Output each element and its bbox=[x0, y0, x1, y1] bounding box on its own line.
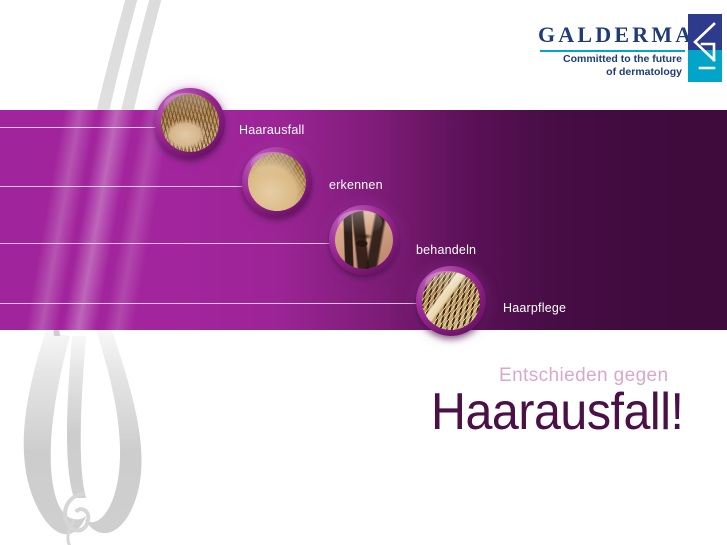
step-bubble-behandeln[interactable] bbox=[329, 205, 399, 275]
step-bubble-haarausfall[interactable] bbox=[155, 88, 225, 158]
step-bubble-haarpflege[interactable] bbox=[416, 266, 486, 336]
step-label-haarausfall: Haarausfall bbox=[239, 123, 304, 137]
logo-tagline-line1: Committed to the future bbox=[538, 53, 682, 66]
tagline-large: Haarausfall! bbox=[431, 382, 683, 442]
bubble-ring bbox=[242, 147, 312, 217]
connector-line-1 bbox=[0, 127, 158, 128]
connector-line-2 bbox=[0, 186, 246, 187]
bubble-ring bbox=[329, 205, 399, 275]
step-label-behandeln: behandeln bbox=[416, 243, 476, 257]
bubble-ring bbox=[155, 88, 225, 158]
step-bubble-erkennen[interactable] bbox=[242, 147, 312, 217]
g-arrow-glyph bbox=[688, 14, 722, 82]
poster-canvas: Haarausfall erkennen behandeln Haarpfleg… bbox=[0, 0, 727, 545]
galderma-g-arrow-icon bbox=[688, 14, 722, 82]
logo-tagline: Committed to the future of dermatology bbox=[538, 53, 682, 78]
bubble-ring bbox=[416, 266, 486, 336]
step-label-haarpflege: Haarpflege bbox=[503, 301, 566, 315]
connector-line-4 bbox=[0, 303, 420, 304]
logo-tagline-line2: of dermatology bbox=[538, 66, 682, 79]
connector-line-3 bbox=[0, 243, 333, 244]
galderma-wordmark: GALDERMA bbox=[538, 22, 682, 48]
galderma-logo[interactable]: GALDERMA Committed to the future of derm… bbox=[538, 12, 718, 82]
logo-divider bbox=[540, 50, 685, 52]
step-label-erkennen: erkennen bbox=[329, 178, 383, 192]
